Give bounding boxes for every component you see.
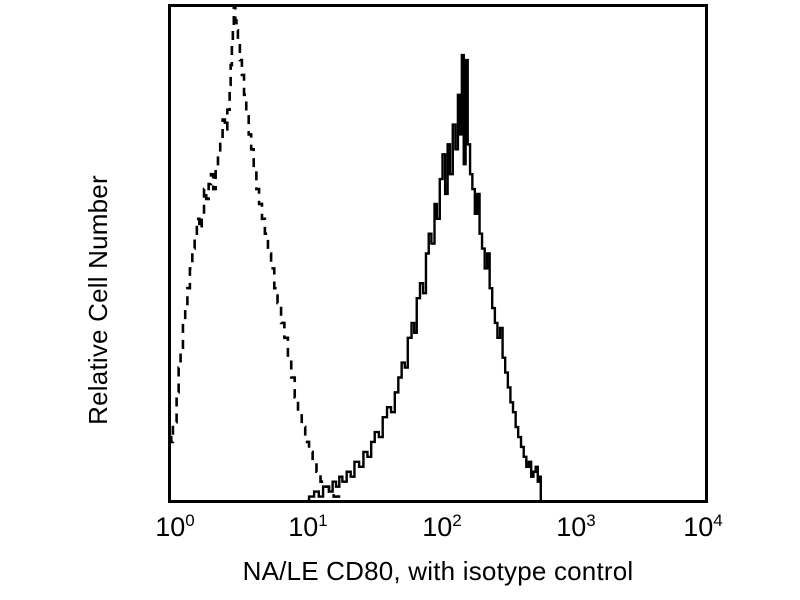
flow-cytometry-figure: Relative Cell Number 100 101 102 103 104… <box>0 0 800 600</box>
x-tick-label-1e0: 100 <box>155 512 195 543</box>
x-tick-label-1e4: 104 <box>683 512 723 543</box>
x-tick-label-1e1: 101 <box>288 512 328 543</box>
x-tick-label-1e3: 103 <box>556 512 596 543</box>
x-axis-title: NA/LE CD80, with isotype control <box>168 556 708 587</box>
x-tick-label-1e2: 102 <box>422 512 462 543</box>
plot-frame <box>170 6 707 502</box>
y-axis-title-wrap: Relative Cell Number <box>78 0 118 600</box>
y-axis-title: Relative Cell Number <box>78 0 118 600</box>
plot-canvas <box>0 0 800 600</box>
